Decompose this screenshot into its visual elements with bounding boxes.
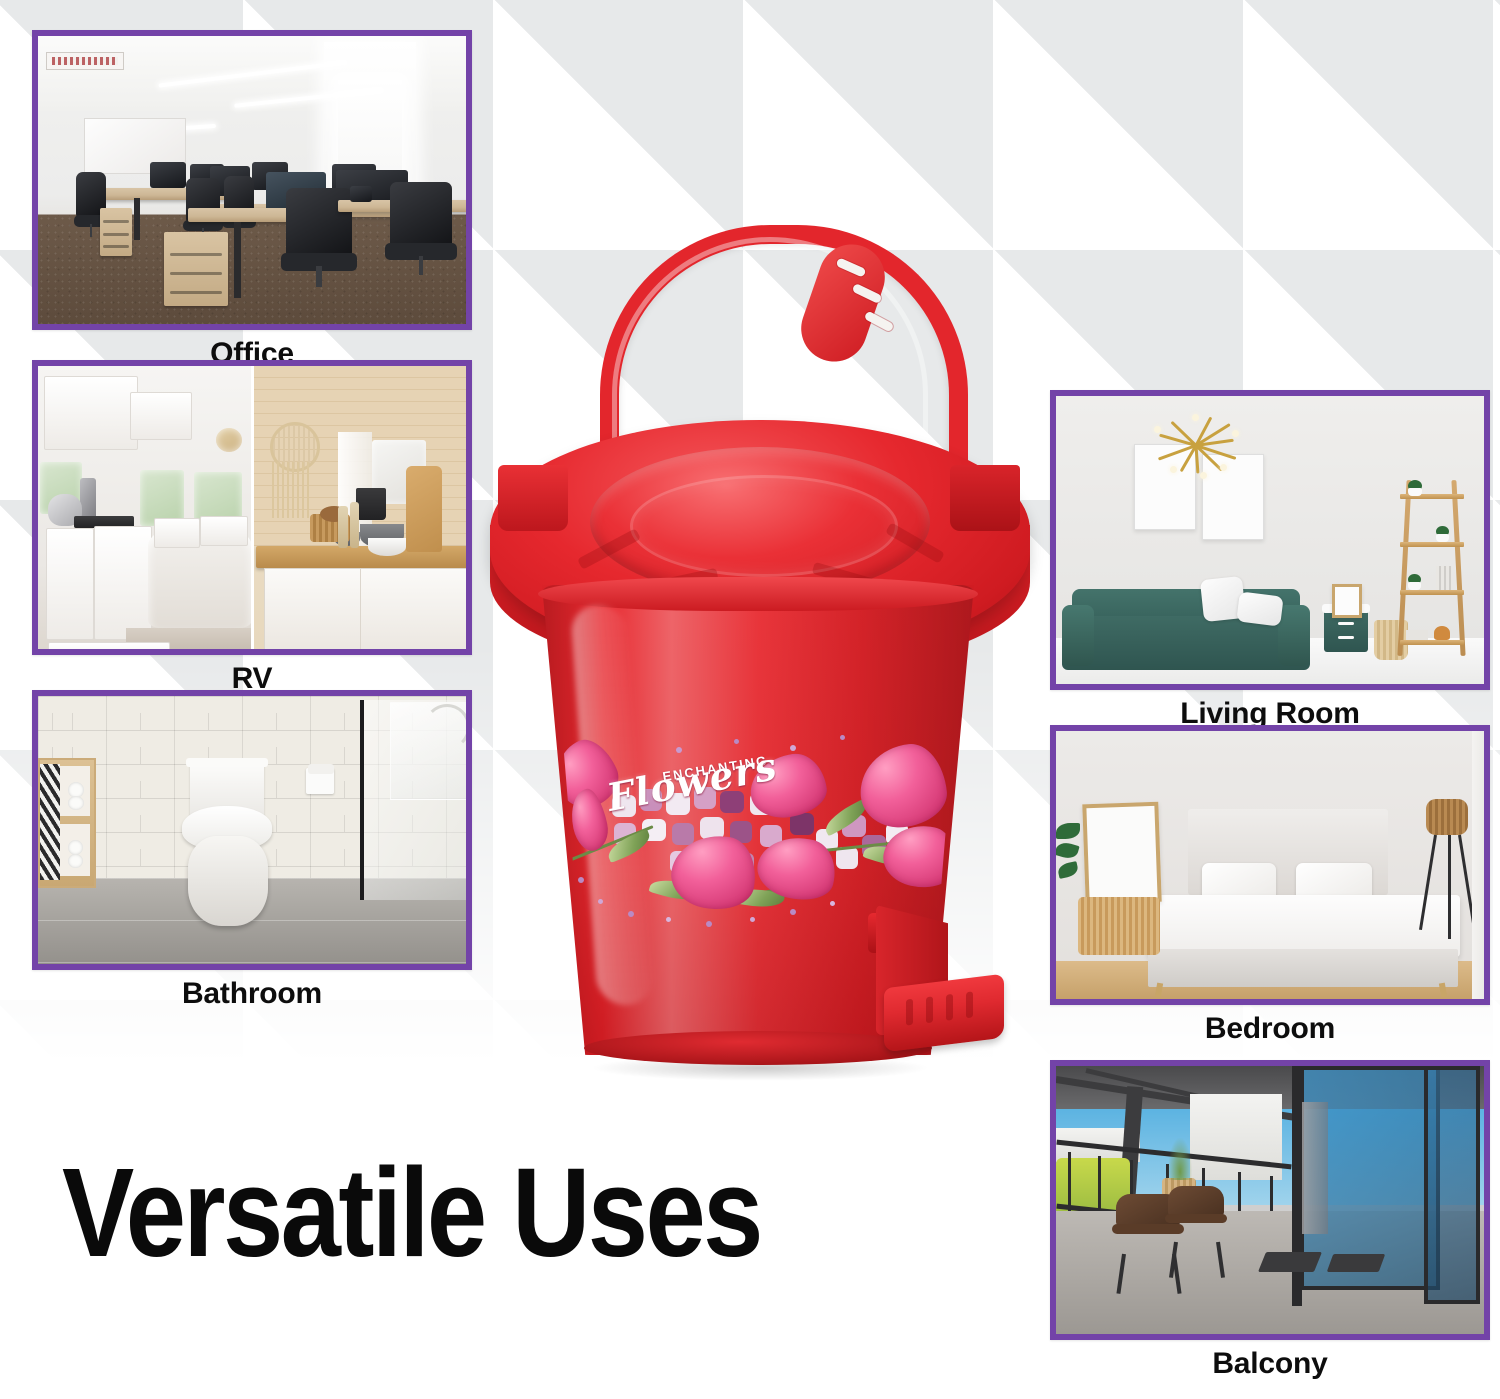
photo-living-room (1056, 396, 1484, 684)
photo-office (38, 36, 466, 324)
scene-card-bathroom[interactable]: Bathroom (32, 690, 472, 1013)
scene-photo-frame-bathroom (32, 690, 472, 970)
scene-photo-frame-rv (32, 360, 472, 655)
infographic-canvas: Office (0, 0, 1500, 1399)
scene-label-bathroom: Bathroom (32, 970, 472, 1013)
product-floral-decal: ENCHANTING Flowers (554, 731, 962, 931)
scene-photo-frame-living-room (1050, 390, 1490, 690)
product-lid-tab-left (498, 465, 568, 531)
product-lid-oval-detail (630, 475, 898, 577)
scene-photo-frame-bedroom (1050, 725, 1490, 1005)
photo-balcony (1056, 1066, 1484, 1334)
scene-card-bedroom[interactable]: Bedroom (1050, 725, 1490, 1048)
photo-bedroom (1056, 731, 1484, 999)
scene-label-bedroom: Bedroom (1050, 1005, 1490, 1048)
scene-card-office[interactable]: Office (32, 30, 472, 373)
photo-bathroom (38, 696, 466, 964)
page-title: Versatile Uses (62, 1150, 761, 1276)
scene-card-rv[interactable]: RV (32, 360, 472, 698)
photo-rv (38, 366, 466, 649)
scene-label-balcony: Balcony (1050, 1340, 1490, 1383)
product-body-base (584, 1031, 932, 1065)
product-image-red-pedal-dustbin[interactable]: ENCHANTING Flowers (480, 225, 1040, 1065)
product-lid-tab-right (950, 465, 1020, 531)
scene-photo-frame-office (32, 30, 472, 330)
scene-card-balcony[interactable]: Balcony (1050, 1060, 1490, 1383)
scene-photo-frame-balcony (1050, 1060, 1490, 1340)
scene-card-living-room[interactable]: Living Room (1050, 390, 1490, 733)
product-foot-pedal[interactable] (884, 974, 1004, 1053)
